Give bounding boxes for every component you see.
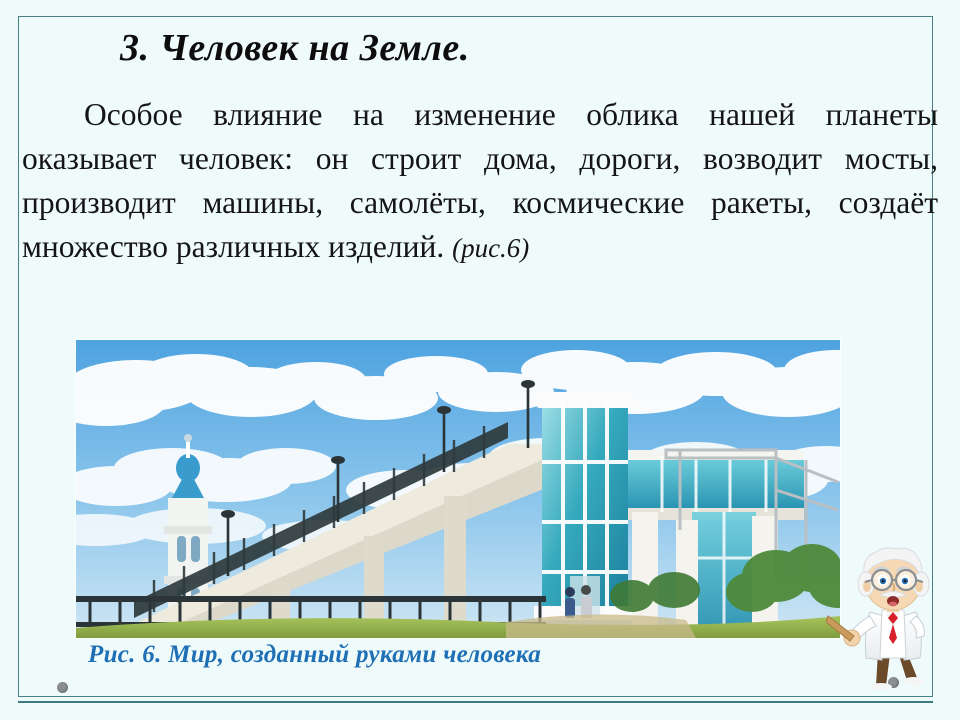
photo-illustration	[76, 340, 840, 638]
professor-mascot	[826, 540, 960, 690]
figure-reference: (рис.6)	[452, 233, 529, 263]
decorative-dot-left	[57, 682, 68, 693]
body-paragraph: Особое влияние на изменение облика нашей…	[22, 93, 938, 270]
slide: 3. Человек на Земле. Особое влияние на и…	[0, 0, 960, 720]
page-title: 3. Человек на Земле.	[120, 26, 470, 70]
professor-illustration	[826, 540, 960, 690]
figure-caption: Рис. 6. Мир, созданный руками человека	[88, 641, 541, 669]
slide-frame-underline	[18, 701, 933, 703]
figure-photo	[76, 340, 840, 638]
